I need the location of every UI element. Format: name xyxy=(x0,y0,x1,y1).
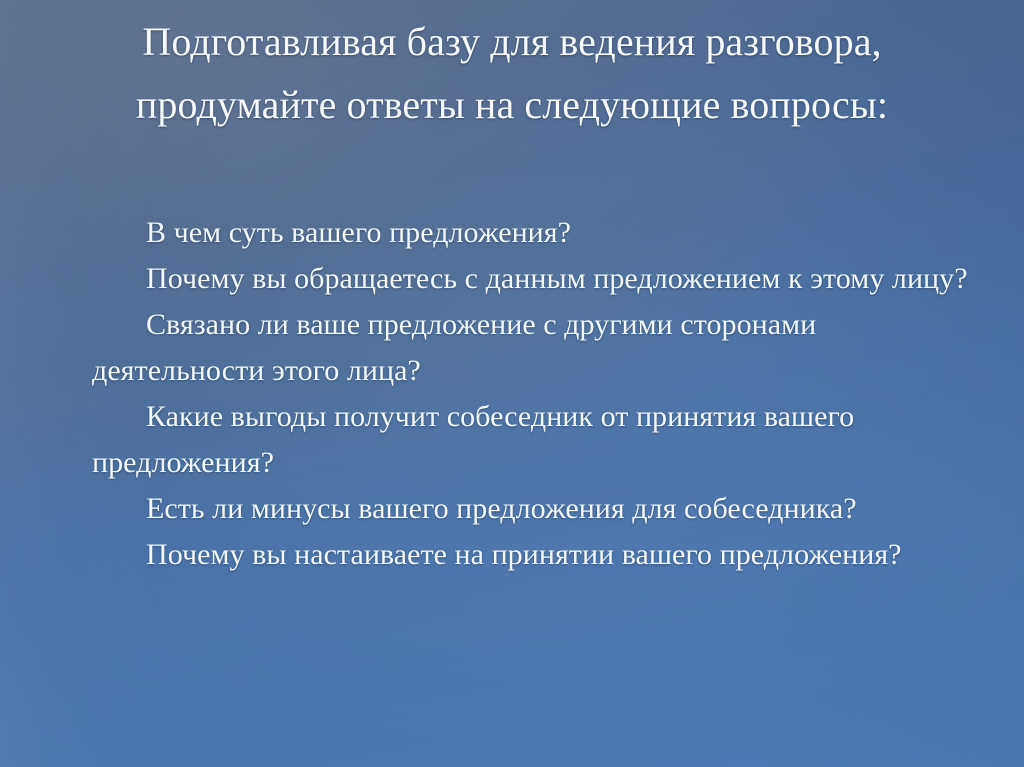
page-title: Подготавливая базу для ведения разговора… xyxy=(70,10,954,136)
list-item: Какие выгоды получит собеседник от приня… xyxy=(92,394,972,486)
presentation-slide: Подготавливая базу для ведения разговора… xyxy=(0,0,1024,767)
list-item: В чем суть вашего предложения? xyxy=(92,210,972,256)
question-list: В чем суть вашего предложения? Почему вы… xyxy=(92,210,972,578)
list-item: Почему вы настаиваете на принятии вашего… xyxy=(92,532,972,578)
list-item: Почему вы обращаетесь с данным предложен… xyxy=(92,256,972,302)
slide-content: Подготавливая базу для ведения разговора… xyxy=(0,0,1024,767)
list-item: Есть ли минусы вашего предложения для со… xyxy=(92,486,972,532)
list-item: Связано ли ваше предложение с другими ст… xyxy=(92,302,972,394)
